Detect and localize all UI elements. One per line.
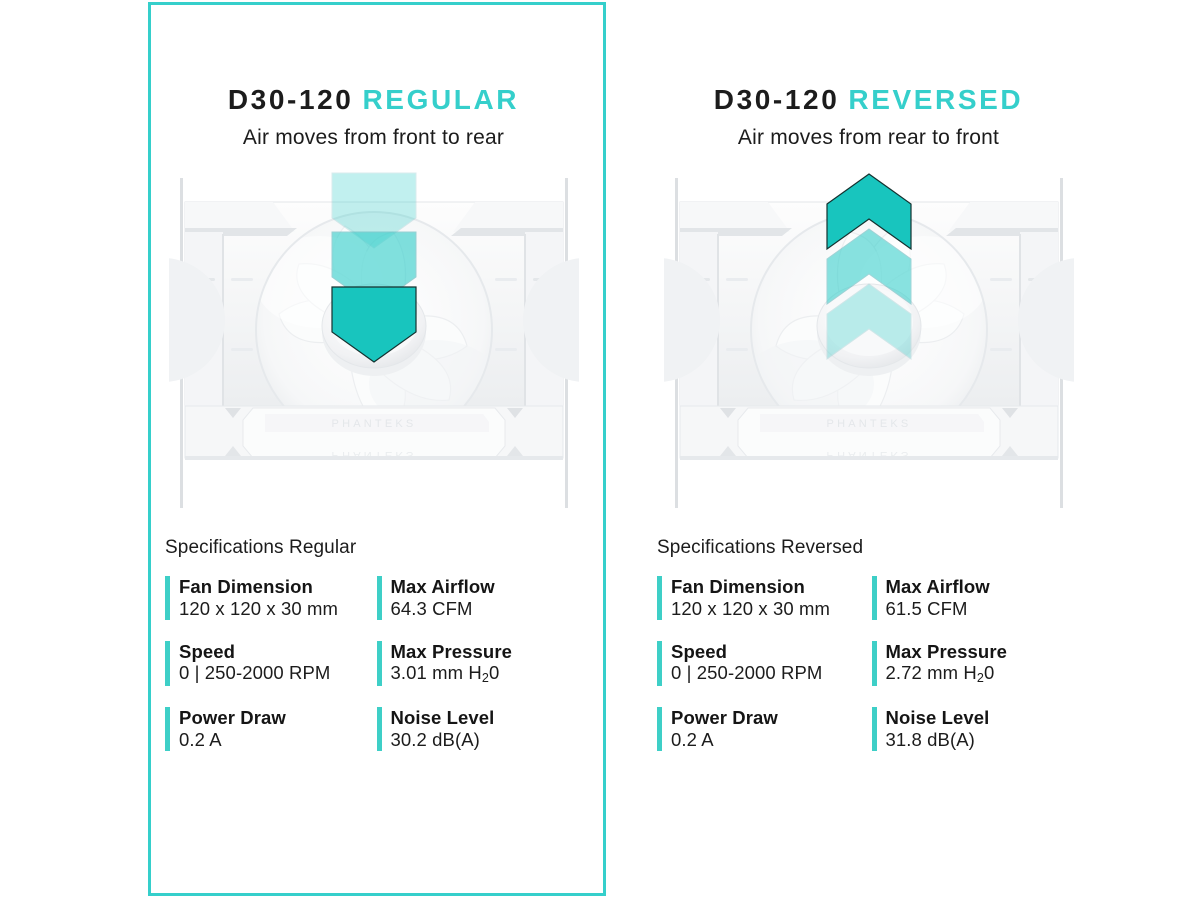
spec-label: Power Draw [671, 707, 778, 729]
spec-value-main: 3.01 mm H [391, 662, 482, 683]
spec-grid-reversed: Fan Dimension 120 x 120 x 30 mm Max Airf… [657, 576, 1080, 751]
accent-bar [165, 707, 170, 751]
accent-bar [377, 707, 382, 751]
spec-grid-regular: Fan Dimension 120 x 120 x 30 mm Max Airf… [165, 576, 582, 751]
spec-item-power-draw: Power Draw 0.2 A [165, 707, 371, 751]
accent-bar [377, 576, 382, 620]
spec-label: Speed [179, 641, 330, 663]
spec-value: 64.3 CFM [391, 598, 495, 620]
spec-value-subscript: 2 [977, 671, 984, 685]
model-name: D30-120 [228, 84, 354, 115]
spec-label: Fan Dimension [671, 576, 830, 598]
spec-label: Max Airflow [391, 576, 495, 598]
comparison-panels: D30-120REGULAR Air moves from front to r… [0, 0, 1200, 900]
fan-image-reversed: PHANTEKS PHANTEKS [664, 170, 1074, 515]
spec-item-speed: Speed 0 | 250-2000 RPM [657, 641, 866, 686]
spec-label: Max Pressure [886, 641, 1008, 663]
spec-value: 61.5 CFM [886, 598, 990, 620]
subtitle-regular: Air moves from front to rear [165, 127, 582, 148]
spec-value-main: 2.72 mm H [886, 662, 977, 683]
spec-value: 2.72 mm H20 [886, 662, 1008, 686]
fan-illustration-regular: PHANTEKS PHANTEKS [165, 170, 582, 515]
spec-label: Noise Level [886, 707, 990, 729]
page-title-regular: D30-120REGULAR [165, 86, 582, 114]
model-name: D30-120 [714, 84, 840, 115]
accent-bar [872, 707, 877, 751]
accent-bar [657, 576, 662, 620]
accent-bar [872, 576, 877, 620]
accent-bar [657, 641, 662, 686]
spec-value: 30.2 dB(A) [391, 729, 495, 751]
spec-label: Power Draw [179, 707, 286, 729]
spec-item-fan-dimension: Fan Dimension 120 x 120 x 30 mm [657, 576, 866, 620]
variant-name: REVERSED [848, 84, 1023, 115]
branding-text-top: PHANTEKS [331, 418, 416, 430]
spec-value: 31.8 dB(A) [886, 729, 990, 751]
spec-item-max-airflow: Max Airflow 61.5 CFM [872, 576, 1081, 620]
spec-label: Noise Level [391, 707, 495, 729]
spec-item-max-pressure: Max Pressure 3.01 mm H20 [377, 641, 583, 686]
panel-regular: D30-120REGULAR Air moves from front to r… [0, 0, 606, 900]
spec-label: Max Airflow [886, 576, 990, 598]
accent-bar [872, 641, 877, 686]
title-block-reversed: D30-120REVERSED Air moves from rear to f… [657, 86, 1080, 148]
branding-text-top: PHANTEKS [826, 418, 911, 430]
spec-item-speed: Speed 0 | 250-2000 RPM [165, 641, 371, 686]
title-block-regular: D30-120REGULAR Air moves from front to r… [165, 86, 582, 148]
spec-value-tail: 0 [984, 662, 994, 683]
spec-label: Max Pressure [391, 641, 513, 663]
spec-item-max-pressure: Max Pressure 2.72 mm H20 [872, 641, 1081, 686]
spec-value: 120 x 120 x 30 mm [179, 598, 338, 620]
spec-value-subscript: 2 [482, 671, 489, 685]
spec-value: 0.2 A [671, 729, 778, 751]
spec-item-noise-level: Noise Level 31.8 dB(A) [872, 707, 1081, 751]
accent-bar [165, 576, 170, 620]
page-title-reversed: D30-120REVERSED [657, 86, 1080, 114]
spec-item-power-draw: Power Draw 0.2 A [657, 707, 866, 751]
spec-value: 3.01 mm H20 [391, 662, 513, 686]
spec-value: 0.2 A [179, 729, 286, 751]
spec-heading-regular: Specifications Regular [165, 537, 582, 559]
fan-image-regular: PHANTEKS PHANTEKS [169, 170, 579, 515]
accent-bar [165, 641, 170, 686]
airflow-arrows-regular [332, 173, 416, 362]
spec-value: 0 | 250-2000 RPM [179, 662, 330, 684]
variant-name: REGULAR [362, 84, 519, 115]
spec-label: Speed [671, 641, 822, 663]
spec-item-max-airflow: Max Airflow 64.3 CFM [377, 576, 583, 620]
fan-illustration-reversed: PHANTEKS PHANTEKS [657, 170, 1080, 515]
spec-value: 0 | 250-2000 RPM [671, 662, 822, 684]
spec-value: 120 x 120 x 30 mm [671, 598, 830, 620]
subtitle-reversed: Air moves from rear to front [657, 127, 1080, 148]
accent-bar [377, 641, 382, 686]
spec-item-fan-dimension: Fan Dimension 120 x 120 x 30 mm [165, 576, 371, 620]
panel-reversed: D30-120REVERSED Air moves from rear to f… [606, 0, 1200, 900]
accent-bar [657, 707, 662, 751]
spec-heading-reversed: Specifications Reversed [657, 537, 1080, 559]
spec-value-tail: 0 [489, 662, 499, 683]
spec-label: Fan Dimension [179, 576, 338, 598]
spec-item-noise-level: Noise Level 30.2 dB(A) [377, 707, 583, 751]
